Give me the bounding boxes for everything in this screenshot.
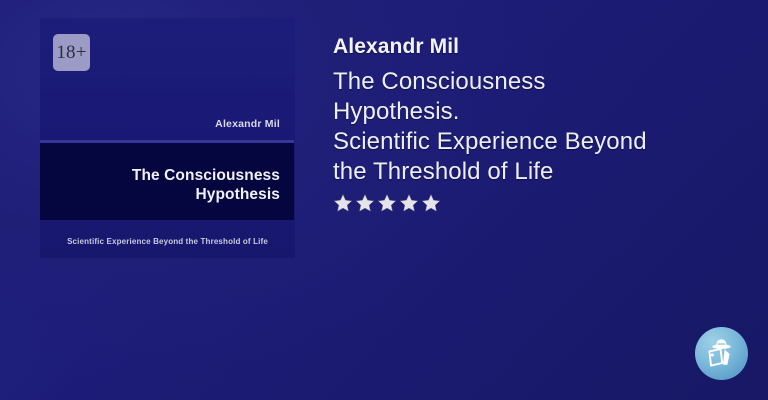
book-cover-image[interactable]: 18+ Alexandr Mil The Consciousness Hypot… (40, 18, 295, 258)
star-icon[interactable] (399, 193, 419, 213)
cover-author-name: Alexandr Mil (215, 118, 280, 130)
star-icon[interactable] (333, 193, 353, 213)
book-detail-page: 18+ Alexandr Mil The Consciousness Hypot… (0, 0, 768, 400)
cover-title-line-2: Hypothesis (195, 186, 280, 203)
book-title[interactable]: The Consciousness Hypothesis. Scientific… (333, 67, 745, 187)
cover-title: The Consciousness Hypothesis (60, 166, 280, 204)
star-icon[interactable] (355, 193, 375, 213)
star-icon[interactable] (377, 193, 397, 213)
reader-with-hat-logo[interactable] (695, 327, 748, 380)
reader-with-hat-icon (704, 336, 740, 372)
book-title-line-3: Scientific Experience Beyond (333, 128, 647, 155)
book-title-line-4: the Threshold of Life (333, 158, 553, 185)
star-rating[interactable] (333, 193, 745, 213)
star-icon[interactable] (421, 193, 441, 213)
book-author-name[interactable]: Alexandr Mil (333, 33, 745, 61)
book-title-line-2: Hypothesis. (333, 98, 460, 125)
book-info-panel: Alexandr Mil The Consciousness Hypothesi… (333, 33, 745, 213)
cover-title-band: The Consciousness Hypothesis (40, 143, 294, 220)
age-rating-badge: 18+ (53, 34, 90, 71)
cover-subtitle: Scientific Experience Beyond the Thresho… (40, 237, 295, 246)
book-title-line-1: The Consciousness (333, 68, 545, 95)
cover-title-line-1: The Consciousness (132, 167, 280, 184)
